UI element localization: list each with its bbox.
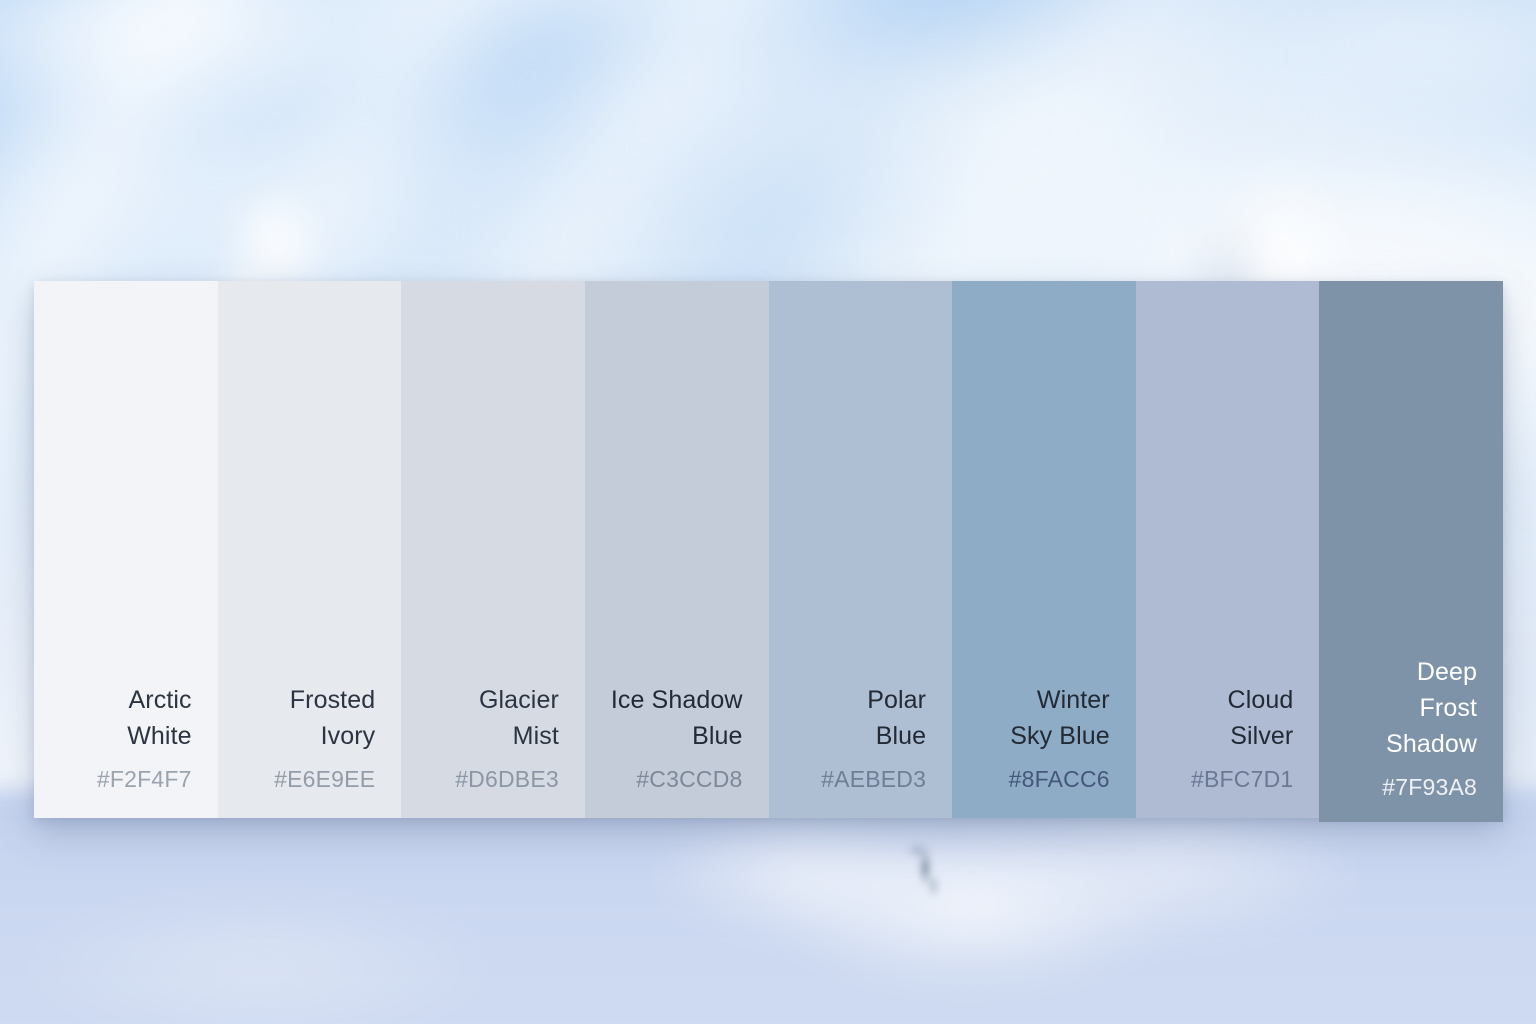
swatch-name: Frosted Ivory [290,682,375,754]
color-swatch-glacier-mist[interactable]: Glacier Mist #D6DBE3 [401,281,585,818]
swatch-hex-code: #7F93A8 [1382,770,1477,804]
swatch-hex-code: #BFC7D1 [1191,762,1293,796]
swatch-hex-code: #8FACC6 [1009,762,1110,796]
swatch-name: Cloud Silver [1228,682,1294,754]
swatch-hex-code: #D6DBE3 [455,762,559,796]
swatch-hex-code: #C3CCD8 [636,762,742,796]
color-palette-card: Arctic White #F2F4F7 Frosted Ivory #E6E9… [34,281,1503,818]
color-swatch-polar-blue[interactable]: Polar Blue #AEBED3 [769,281,953,818]
swatch-hex-code: #E6E9EE [274,762,375,796]
background-snow-mounds [0,800,1536,1024]
color-swatch-deep-frost-shadow[interactable]: Deep Frost Shadow #7F93A8 [1319,281,1503,822]
swatch-name: Ice Shadow Blue [611,682,743,754]
color-swatch-arctic-white[interactable]: Arctic White #F2F4F7 [34,281,218,818]
swatch-name: Polar Blue [867,682,926,754]
swatch-hex-code: #AEBED3 [821,762,926,796]
color-swatch-frosted-ivory[interactable]: Frosted Ivory #E6E9EE [218,281,402,818]
palette-screenshot: Arctic White #F2F4F7 Frosted Ivory #E6E9… [0,0,1536,1024]
swatch-name: Deep Frost Shadow [1386,654,1477,762]
color-swatch-cloud-silver[interactable]: Cloud Silver #BFC7D1 [1136,281,1320,818]
color-swatch-ice-shadow-blue[interactable]: Ice Shadow Blue #C3CCD8 [585,281,769,818]
swatch-name: Glacier Mist [479,682,559,754]
swatch-name: Arctic White [127,682,191,754]
snow-twig [900,836,960,916]
swatch-hex-code: #F2F4F7 [97,762,192,796]
swatch-name: Winter Sky Blue [1010,682,1109,754]
color-swatch-winter-sky-blue[interactable]: Winter Sky Blue #8FACC6 [952,281,1136,818]
